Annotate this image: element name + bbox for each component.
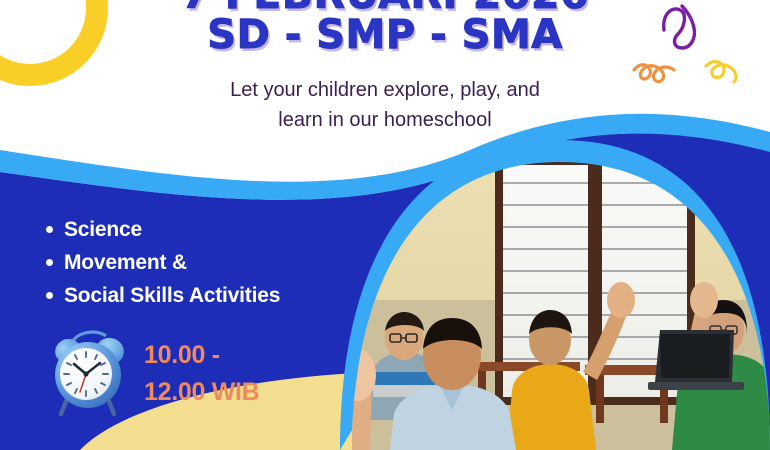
time-range-text: 10.00 - 12.00 WIB — [144, 337, 259, 411]
activity-item: Social Skills Activities — [46, 282, 376, 309]
time-line-2: 12.00 WIB — [144, 374, 259, 411]
purple-squiggle-doodle — [664, 6, 695, 48]
bullet-dot-icon — [46, 226, 53, 233]
orange-squiggle-doodle — [634, 65, 674, 82]
poster-canvas: 7 FEBRUARI 2026 SD - SMP - SMA Let your … — [0, 0, 770, 450]
activity-label: Science — [64, 216, 142, 243]
bullet-dot-icon — [46, 259, 53, 266]
alarm-clock-icon — [52, 326, 132, 421]
clock-center-pin — [83, 371, 88, 376]
schedule-block: 10.00 - 12.00 WIB — [52, 326, 259, 421]
activity-label: Social Skills Activities — [64, 282, 280, 309]
activity-label: Movement & — [64, 249, 187, 276]
activity-item: Science — [46, 216, 376, 243]
activity-item: Movement & — [46, 249, 376, 276]
yellow-squiggle-doodle — [706, 62, 736, 82]
activities-list: Science Movement & Social Skills Activit… — [46, 216, 376, 315]
bullet-dot-icon — [46, 292, 53, 299]
time-line-1: 10.00 - — [144, 337, 259, 374]
